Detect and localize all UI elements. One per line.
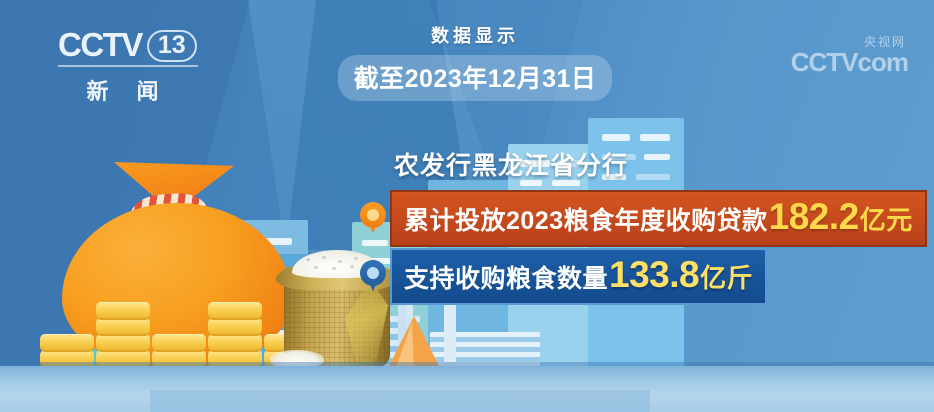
channel-subtitle: 新 闻 xyxy=(58,74,198,106)
page-title: 农发行黑龙江省分行 xyxy=(394,146,628,182)
data-row-loan: 累计投放2023粮食年度收购贷款182.2亿元 xyxy=(360,190,927,247)
orange-map-pin-icon xyxy=(360,202,386,236)
data-row-grain: 支持收购粮食数量133.8亿斤 xyxy=(360,248,767,305)
header-date-row: 截至2023年12月31日 xyxy=(330,55,620,101)
watermark-mark: CCTVcom xyxy=(791,49,908,75)
watermark-domain-text: com xyxy=(858,47,908,77)
grain-label: 支持收购粮食数量 xyxy=(404,259,608,295)
header-block: 数据显示 截至2023年12月31日 xyxy=(330,22,620,101)
channel-number-badge: 13 xyxy=(147,30,197,62)
loan-value: 182.2 xyxy=(769,196,859,238)
ground-shadow xyxy=(150,390,650,412)
blue-map-pin-icon xyxy=(360,260,386,294)
watermark-cctv-text: CCTV xyxy=(791,47,858,77)
broadcast-graphic: CCTV13 新 闻 数据显示 截至2023年12月31日 央视网 CCTVco… xyxy=(0,0,934,412)
channel-logo-text: CCTV xyxy=(58,26,142,63)
loan-unit: 亿元 xyxy=(860,200,913,237)
channel-logo-underline xyxy=(58,65,198,67)
grain-unit: 亿斤 xyxy=(700,258,753,295)
grain-banner: 支持收购粮食数量133.8亿斤 xyxy=(390,248,767,305)
cctv-dot-com-watermark: 央视网 CCTVcom xyxy=(791,36,908,75)
loan-label: 累计投放2023粮食年度收购贷款 xyxy=(404,201,768,237)
channel-logo: CCTV13 新 闻 xyxy=(58,28,230,100)
channel-logo-mark: CCTV13 xyxy=(58,28,230,62)
loan-banner: 累计投放2023粮食年度收购贷款182.2亿元 xyxy=(390,190,927,247)
grain-value: 133.8 xyxy=(609,254,699,296)
header-kicker: 数据显示 xyxy=(330,22,620,48)
header-date-pill: 截至2023年12月31日 xyxy=(338,55,613,101)
